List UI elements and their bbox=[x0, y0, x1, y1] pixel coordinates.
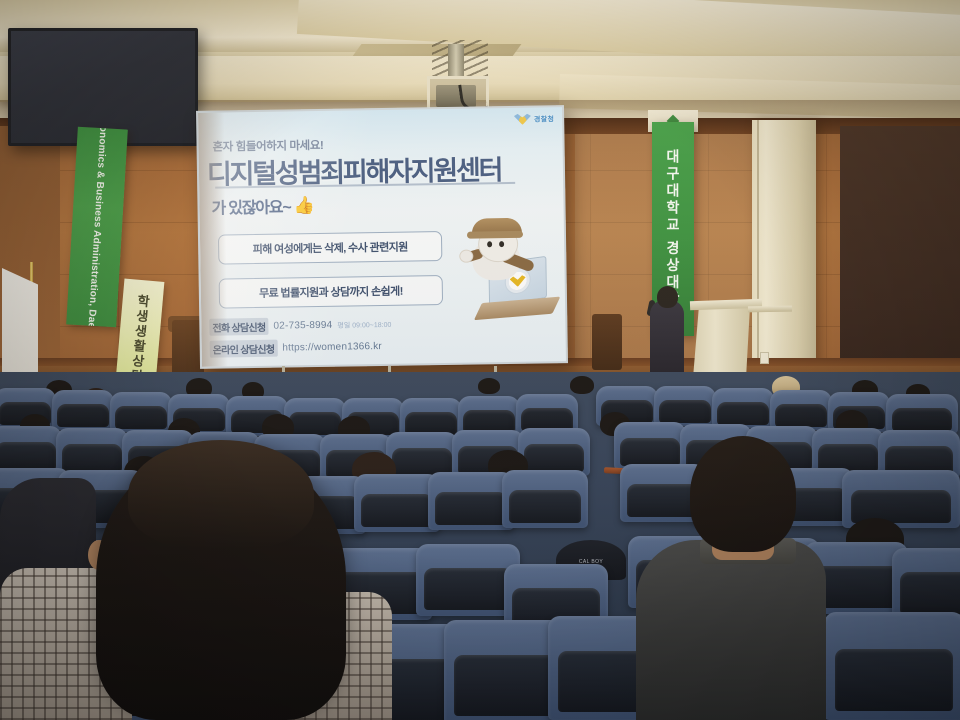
slide-subtitle-row: 가 있잖아요~ 👍 bbox=[211, 193, 313, 219]
police-logo-label: 경찰청 bbox=[534, 114, 554, 124]
seat[interactable] bbox=[52, 390, 114, 430]
presenter-hair bbox=[657, 286, 678, 308]
contact-row-phone: 전화 상담신청 02-735-8994 평일 09:00~18:00 bbox=[209, 316, 391, 336]
stage-chair-right bbox=[592, 314, 622, 370]
contact-row-online: 온라인 상담신청 https://women1366.kr bbox=[210, 338, 382, 358]
contact-value: 02-735-8994 bbox=[273, 320, 332, 332]
slide-edge-shadow bbox=[198, 112, 228, 366]
attendee-head bbox=[478, 378, 500, 394]
seat[interactable] bbox=[712, 388, 774, 428]
attendee-foreground-right-body bbox=[636, 540, 826, 720]
seat[interactable] bbox=[614, 422, 686, 470]
wall-outlet bbox=[760, 352, 769, 364]
attendee-head bbox=[570, 376, 594, 394]
contact-value: https://women1366.kr bbox=[282, 341, 382, 354]
seat[interactable] bbox=[518, 428, 590, 476]
projector-mount bbox=[448, 44, 464, 78]
slide-bullet-box: 피해 여성에게는 삭제, 수사 관련지원 bbox=[218, 231, 442, 265]
banner-right-green-label: 대구대학교 경상대학 bbox=[663, 149, 683, 309]
seat[interactable] bbox=[502, 470, 588, 528]
seat[interactable] bbox=[770, 390, 832, 430]
slide-bullet-box: 무료 법률지원과 상담까지 손쉽게! bbox=[219, 275, 443, 309]
tv-screen-off bbox=[11, 31, 195, 143]
seat[interactable] bbox=[110, 392, 172, 432]
police-agency-logo: 경찰청 bbox=[514, 113, 554, 125]
mascot-eye bbox=[487, 241, 492, 247]
police-emblem-icon bbox=[514, 114, 531, 125]
police-mascot-icon bbox=[466, 215, 552, 326]
thumbs-up-icon: 👍 bbox=[293, 197, 313, 214]
seat[interactable] bbox=[0, 426, 62, 474]
seat[interactable] bbox=[56, 428, 128, 476]
projection-screen: 경찰청 혼자 힘들어하지 마세요! 디지털성범죄피해자지원센터 가 있잖아요~ … bbox=[196, 105, 568, 369]
laptop-keyboard bbox=[474, 297, 561, 321]
attendee-foreground-right-head bbox=[690, 436, 796, 552]
attendee-hair-crown bbox=[128, 440, 314, 550]
seat[interactable] bbox=[892, 548, 960, 620]
mascot-eye bbox=[499, 241, 504, 247]
south-korean-flag bbox=[2, 268, 38, 386]
seat[interactable] bbox=[886, 394, 958, 434]
auditorium-photo: College of Economics & Business Administ… bbox=[0, 0, 960, 720]
seat[interactable] bbox=[654, 386, 716, 426]
screen-frame: 경찰청 혼자 힘들어하지 마세요! 디지털성범죄피해자지원센터 가 있잖아요~ … bbox=[196, 105, 568, 369]
seat[interactable] bbox=[842, 470, 960, 528]
seat[interactable] bbox=[824, 612, 960, 720]
lectern-side-rail bbox=[748, 306, 792, 313]
mascot-police-cap bbox=[472, 218, 522, 238]
banner-left-green-label: College of Economics & Business Administ… bbox=[82, 127, 113, 328]
slide-content: 경찰청 혼자 힘들어하지 마세요! 디지털성범죄피해자지원센터 가 있잖아요~ … bbox=[198, 107, 566, 367]
contact-note: 평일 09:00~18:00 bbox=[337, 319, 391, 330]
